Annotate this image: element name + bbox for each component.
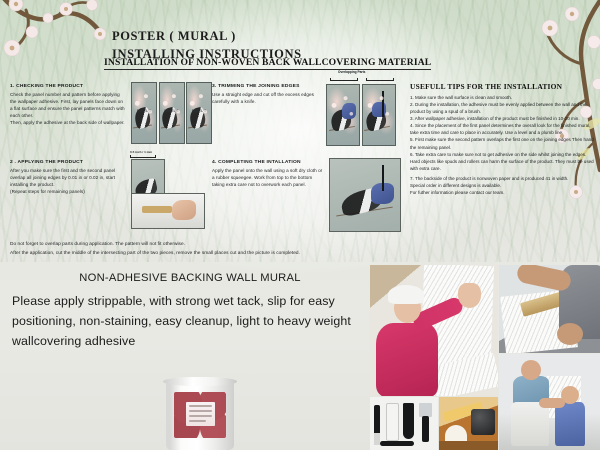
promo-block: NON-ADHESIVE BACKING WALL MURAL Please a… bbox=[12, 272, 368, 351]
step-1-checking-the-product: 1. CHECKING THE PRODUCT Check the panel … bbox=[10, 84, 126, 127]
hand-shape bbox=[172, 200, 196, 220]
promo-heading: NON-ADHESIVE BACKING WALL MURAL bbox=[12, 272, 368, 284]
overlap-measure-callout: 0.5 inch / 1 mm bbox=[130, 150, 172, 158]
measure-bar bbox=[130, 155, 156, 158]
photo-paste-and-table bbox=[439, 397, 498, 450]
hand-right bbox=[372, 102, 386, 118]
step-1-body: Check the panel number and pattern befor… bbox=[10, 92, 126, 127]
overlapping-parts-label: Overlapping Parts bbox=[338, 70, 365, 74]
scraper-blade-icon bbox=[419, 403, 432, 417]
step-1-panel-diagram: PANEL 1 PANEL 2 PANEL 3 bbox=[131, 82, 212, 144]
step-3-trimming-the-joining-edges: 3. TRIMMING THE JOINING EDGES Use a stra… bbox=[212, 84, 324, 106]
useful-tips-panel: USEFULL TIPS FOR THE INSTALLATION 1. Mak… bbox=[410, 82, 596, 196]
child-shirt bbox=[555, 402, 585, 446]
pink-shirt bbox=[376, 323, 438, 396]
panel-2-label: PANEL 2 bbox=[164, 109, 179, 113]
table-edge bbox=[439, 441, 498, 450]
tip-item-6: 6. Take extra care to make sure not to g… bbox=[410, 151, 596, 172]
step-4-heading: 4. COMPLETING THE INTALLATION bbox=[212, 160, 326, 166]
plastic-smoother-icon bbox=[403, 403, 414, 439]
photo-pasting-with-roller bbox=[499, 265, 600, 353]
note-2: After the application, cut the middle of… bbox=[10, 249, 430, 258]
tip-item-2: 2. During the installation, the adhesive… bbox=[410, 101, 596, 115]
razor-tool-icon bbox=[380, 441, 414, 446]
pressing-hand bbox=[458, 283, 481, 308]
overlapping-parts-bar-right bbox=[366, 78, 394, 81]
promo-body: Please apply strippable, with strong wet… bbox=[12, 291, 368, 351]
man-head bbox=[521, 360, 541, 380]
tips-heading: USEFULL TIPS FOR THE INSTALLATION bbox=[410, 82, 596, 91]
mural-instruction-sheet: POSTER ( MURAL ) INSTALLING INSTRUCTIONS… bbox=[0, 0, 600, 450]
note-1: Do not forget to overlap parts during ap… bbox=[10, 240, 430, 249]
step-4-completing-the-installation: 4. COMPLETING THE INTALLATION Apply the … bbox=[212, 160, 326, 189]
tip-item-3: 3. After wallpaper adhesive, installatio… bbox=[410, 115, 596, 122]
tip-contact: For futher information please contact ou… bbox=[410, 189, 596, 196]
bucket-label bbox=[186, 402, 215, 426]
tip-item-7: 7. The backside of the product is nonwov… bbox=[410, 175, 596, 182]
child-arm bbox=[539, 398, 565, 408]
overlapping-parts-bar-left bbox=[330, 78, 358, 81]
tips-list: 1. Make sure the wall surface is clean a… bbox=[410, 94, 596, 196]
step-1-heading: 1. CHECKING THE PRODUCT bbox=[10, 84, 126, 90]
step-2-heading: 2 . APPLYING THE PRODUCT bbox=[10, 160, 126, 166]
tip-special-order: Special order in different designs is av… bbox=[410, 182, 596, 189]
white-cap-icon bbox=[388, 285, 424, 304]
step-3-heading: 3. TRIMMING THE JOINING EDGES bbox=[212, 84, 324, 90]
document-subtitle: INSTALLATION OF NON-WOVEN BACK WALLCOVER… bbox=[104, 57, 431, 70]
trim-panel-right bbox=[362, 84, 396, 146]
adhesive-bucket-photo bbox=[162, 372, 238, 450]
panel-1-thumbnail: PANEL 1 bbox=[131, 82, 157, 144]
panel-3-thumbnail: PANEL 3 bbox=[186, 82, 212, 144]
measure-label: 0.5 inch / 1 mm bbox=[130, 150, 172, 154]
panel-2-thumbnail: PANEL 2 bbox=[159, 82, 185, 144]
application-notes: Do not forget to overlap parts during ap… bbox=[10, 240, 430, 259]
tip-item-5: 5. First make sure the second pattern ov… bbox=[410, 136, 596, 150]
photo-collage bbox=[370, 265, 600, 450]
step-4-body: Apply the panel onto the wall using a so… bbox=[212, 168, 326, 189]
tip-item-1: 1. Make sure the wall surface is clean a… bbox=[410, 94, 596, 101]
smoothing-brush-icon bbox=[386, 403, 399, 441]
worker-hand bbox=[557, 323, 583, 345]
step-3-body: Use a straight edge and cut off the exce… bbox=[212, 92, 324, 106]
cutting-knife-icon bbox=[382, 91, 383, 117]
step-2-body: After you make sure the first and the se… bbox=[10, 168, 126, 196]
tip-item-4: 4. Since the placement of the first pane… bbox=[410, 122, 596, 136]
hand-left bbox=[342, 103, 356, 119]
photo-man-and-child bbox=[499, 354, 600, 450]
step-3-trim-diagram bbox=[326, 84, 396, 146]
panel-3-label: PANEL 3 bbox=[192, 109, 207, 113]
knife-handle-icon bbox=[374, 405, 380, 435]
squeegee-arrow-icon bbox=[382, 165, 384, 191]
photo-woman-hanging-wallpaper bbox=[370, 265, 498, 396]
scraper-handle-icon bbox=[422, 416, 429, 442]
step-4-squeegee-photo bbox=[329, 158, 401, 232]
title-line-1: POSTER ( MURAL ) bbox=[112, 28, 302, 46]
step-2-roller-photo bbox=[131, 193, 205, 229]
panel-1-label: PANEL 1 bbox=[137, 109, 152, 113]
step-2-applying-the-product: 2 . APPLYING THE PRODUCT After you make … bbox=[10, 160, 126, 196]
photo-tool-set bbox=[370, 397, 438, 450]
paint-roller-icon bbox=[142, 206, 172, 213]
man-trousers bbox=[511, 402, 549, 446]
trim-panel-left bbox=[326, 84, 360, 146]
paste-bucket-icon bbox=[471, 409, 495, 435]
